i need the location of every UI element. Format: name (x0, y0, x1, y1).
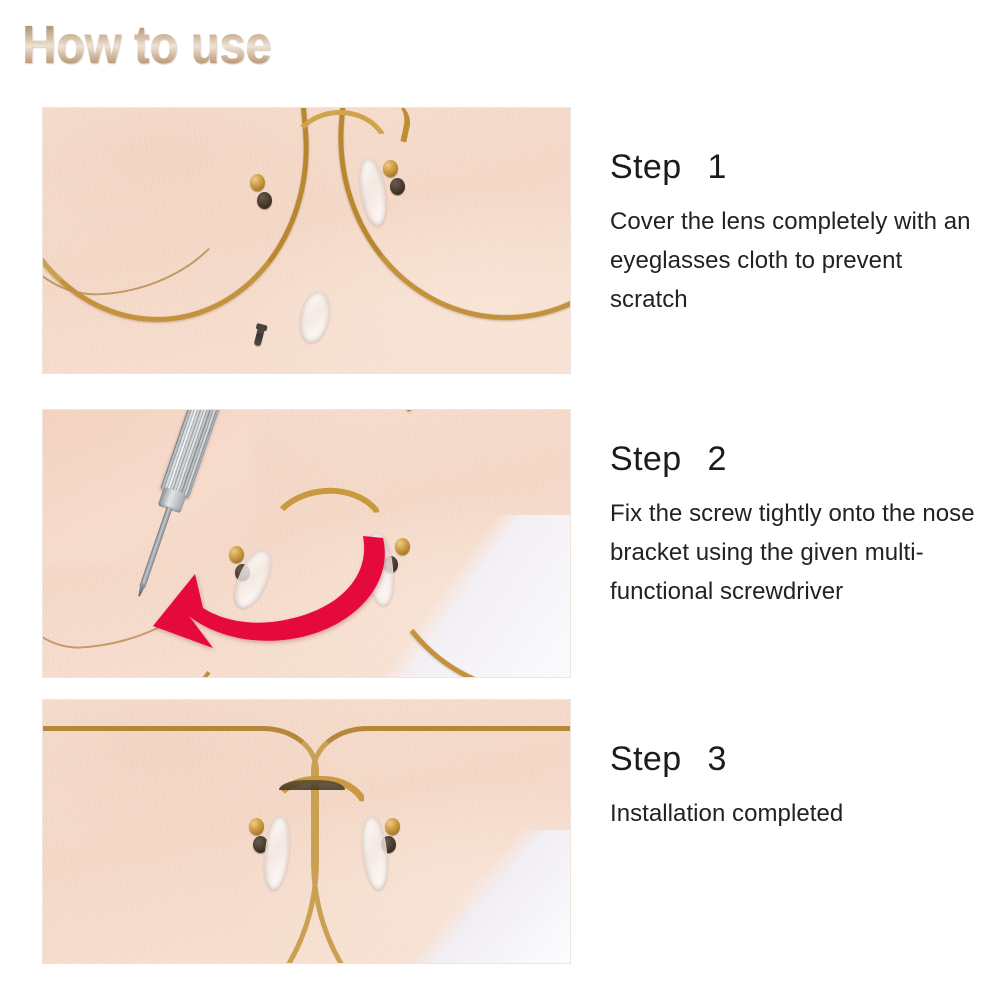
how-to-use-infographic: { "page": { "title": "How to use", "back… (0, 0, 1001, 1001)
frame-bridge-shadow-icon (279, 780, 345, 790)
step-text-3: Step3 Installation completed (610, 740, 982, 833)
nose-bracket-left-icon (250, 174, 265, 191)
nose-bracket-left-icon (249, 818, 264, 835)
red-curved-arrow-icon (151, 530, 401, 652)
step-heading: Step3 (610, 740, 982, 778)
nose-bracket-right-icon (383, 160, 398, 177)
step-number: 3 (708, 740, 727, 778)
step-description: Fix the screw tightly onto the nose brac… (610, 494, 982, 611)
step-photo-3 (43, 700, 570, 963)
step-text-2: Step2 Fix the screw tightly onto the nos… (610, 440, 982, 611)
nose-bracket-screw-icon (257, 192, 272, 209)
step-photo-2 (43, 410, 570, 677)
step-number: 2 (708, 440, 727, 478)
frame-lens-right-icon (311, 726, 570, 963)
step-description: Cover the lens completely with an eyegla… (610, 202, 982, 319)
step-description: Installation completed (610, 794, 982, 833)
step-number: 1 (708, 148, 727, 186)
step-label: Step (610, 440, 682, 478)
step-label: Step (610, 740, 682, 778)
step-heading: Step2 (610, 440, 982, 478)
page-title: How to use (22, 16, 271, 74)
nose-bracket-right-screw-icon (390, 178, 405, 195)
step-label: Step (610, 148, 682, 186)
step-photo-1 (43, 108, 570, 373)
nose-bracket-right-icon (385, 818, 400, 835)
step-text-1: Step1 Cover the lens completely with an … (610, 148, 982, 319)
step-heading: Step1 (610, 148, 982, 186)
